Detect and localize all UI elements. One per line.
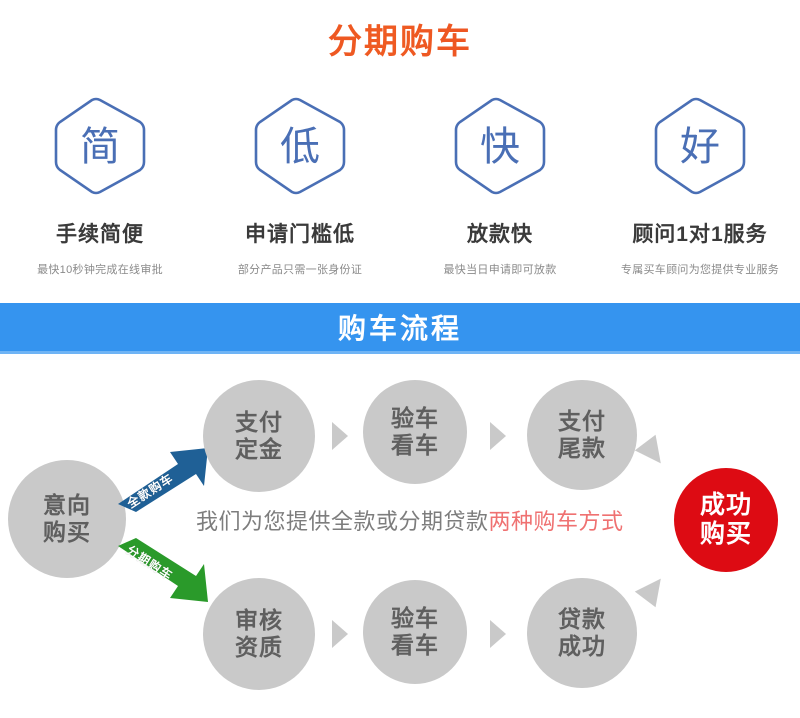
triangle-diagonal-down-icon [635,435,671,471]
flow-node-start: 意向 购买 [8,460,126,578]
flow-node-line2: 尾款 [558,435,606,462]
flow-node-inspect-car-top: 验车 看车 [363,380,467,484]
triangle-right-icon [490,620,506,648]
feature-item-2: 快 放款快 最快当日申请即可放款 [400,96,600,277]
feature-title: 申请门槛低 [245,218,355,248]
flow-node-pay-deposit: 支付 定金 [203,380,315,492]
flow-node-success: 成功 购买 [674,468,778,572]
flow-node-line2: 成功 [558,633,606,660]
arrow-down-right-icon: 分期购车 [112,538,230,608]
flow-node-pay-balance: 支付 尾款 [527,380,637,490]
flow-node-inspect-car-bottom: 验车 看车 [363,580,467,684]
flow-node-review-qualification: 审核 资质 [203,578,315,690]
banner-title: 购车流程 [338,307,462,347]
triangle-diagonal-up-icon [635,571,671,607]
flow-middle-text-plain: 我们为您提供全款或分期贷款 [196,509,489,534]
triangle-right-icon [490,422,506,450]
feature-subtitle: 最快当日申请即可放款 [444,261,557,277]
flow-node-line1: 意向 [43,492,91,519]
feature-title: 手续简便 [56,218,144,248]
hexagon-outline-icon: 低 [248,96,352,196]
flow-node-line2: 看车 [391,632,439,659]
feature-item-3: 好 顾问1对1服务 专属买车顾问为您提供专业服务 [600,96,800,277]
flow-node-line1: 验车 [391,405,439,432]
flow-node-line1: 验车 [391,605,439,632]
flow-node-line1: 支付 [235,409,283,436]
feature-item-1: 低 申请门槛低 部分产品只需一张身份证 [200,96,400,277]
flow-middle-text: 我们为您提供全款或分期贷款两种购车方式 [196,504,666,536]
feature-item-0: 简 手续简便 最快10秒钟完成在线审批 [0,96,200,277]
feature-glyph: 简 [80,127,120,167]
flow-node-loan-success: 贷款 成功 [527,578,637,688]
triangle-right-icon [332,620,348,648]
feature-subtitle: 部分产品只需一张身份证 [238,261,362,277]
triangle-right-icon [332,422,348,450]
flow-node-line2: 资质 [235,634,283,661]
flow-middle-text-highlight: 两种购车方式 [489,509,624,534]
feature-subtitle: 专属买车顾问为您提供专业服务 [621,261,779,277]
section-banner: 购车流程 [0,303,800,354]
flow-node-line2: 购买 [700,520,752,549]
hexagon-outline-icon: 快 [448,96,552,196]
flow-node-line1: 成功 [700,491,752,520]
feature-subtitle: 最快10秒钟完成在线审批 [37,261,163,277]
feature-glyph: 快 [480,127,520,167]
flow-node-line1: 审核 [235,607,283,634]
feature-title: 放款快 [467,218,533,248]
flow-node-line2: 看车 [391,432,439,459]
feature-glyph: 低 [280,127,320,167]
flow-node-line1: 支付 [558,408,606,435]
feature-glyph: 好 [680,127,720,167]
feature-title: 顾问1对1服务 [632,218,767,248]
hexagon-outline-icon: 简 [48,96,152,196]
page-title: 分期购车 [0,14,800,63]
hexagon-outline-icon: 好 [648,96,752,196]
flow-node-line1: 贷款 [558,606,606,633]
flow-node-line2: 定金 [235,436,283,463]
feature-list: 简 手续简便 最快10秒钟完成在线审批 低 申请门槛低 部分产品只需一张身份证 … [0,96,800,277]
flow-node-line2: 购买 [43,519,91,546]
purchase-flow-diagram: 意向 购买 全款购车 分期购车 支付 定金 验车 看车 支付 尾款 审核 资质 … [0,368,800,708]
